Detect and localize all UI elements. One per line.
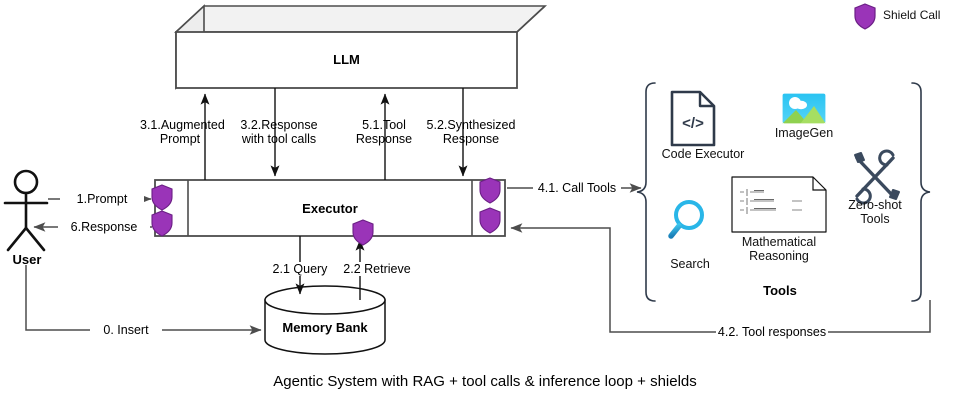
flow-0-insert-line <box>26 265 261 330</box>
svg-text:</>: </> <box>682 115 704 132</box>
llm-box <box>176 6 545 88</box>
memory-bank-label: Memory Bank <box>265 320 385 335</box>
tool-label-math-reasoning: Mathematical Reasoning <box>729 235 829 263</box>
executor-label: Executor <box>188 201 472 216</box>
flow-4-2-tool-responses-line <box>511 228 930 332</box>
flow-label-5-1: 5.1.Tool Response <box>348 118 420 146</box>
shield-icon-memory-retrieve <box>353 220 373 245</box>
tools-group-label: Tools <box>720 283 840 298</box>
flow-label-2-2-retrieve: 2.2 Retrieve <box>334 262 420 276</box>
tools-brace-left <box>637 83 655 301</box>
llm-label: LLM <box>176 52 517 67</box>
user-label: User <box>0 252 54 267</box>
flow-label-2-1-query: 2.1 Query <box>264 262 336 276</box>
user-stick-figure <box>5 171 47 250</box>
flow-label-0-insert: 0. Insert <box>90 323 162 337</box>
flow-label-6-response: 6.Response <box>58 220 150 234</box>
tool-label-search: Search <box>655 257 725 271</box>
flow-label-4-1-call-tools: 4.1. Call Tools <box>533 181 621 195</box>
diagram-caption: Agentic System with RAG + tool calls & i… <box>0 373 970 390</box>
code-executor-icon: </> <box>672 92 714 145</box>
search-icon <box>671 202 702 236</box>
legend-shield-icon <box>855 4 875 29</box>
legend-label: Shield Call <box>883 8 940 22</box>
tool-label-code-executor: Code Executor <box>648 147 758 161</box>
flow-label-3-2: 3.2.Response with tool calls <box>232 118 326 146</box>
flow-label-3-1: 3.1.Augmented Prompt <box>140 118 220 146</box>
diagram-canvas: </> <box>0 0 970 411</box>
flow-label-5-2: 5.2.Synthesized Response <box>424 118 518 146</box>
flow-label-4-2-tool-responses: 4.2. Tool responses <box>716 325 828 339</box>
math-reasoning-icon <box>732 177 826 232</box>
tools-brace-right <box>912 83 930 301</box>
tool-label-zero-shot: Zero-shot Tools <box>840 198 910 226</box>
image-gen-icon <box>782 93 826 124</box>
zero-shot-tools-icon <box>855 151 899 203</box>
tool-label-image-gen: ImageGen <box>764 126 844 140</box>
flow-label-1-prompt: 1.Prompt <box>60 192 144 206</box>
